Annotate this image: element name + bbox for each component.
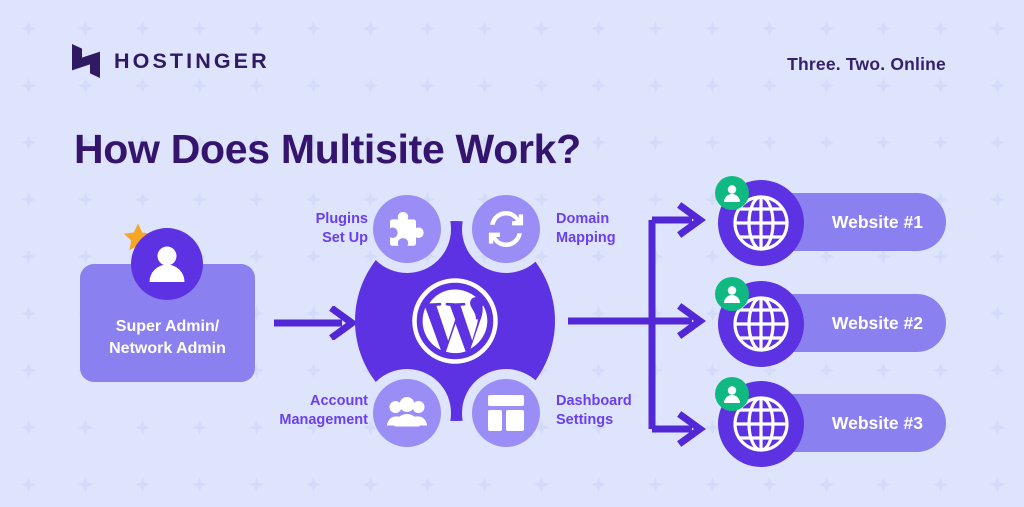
- wordpress-hub: [355, 196, 555, 446]
- infographic-canvas: HOSTINGER Three. Two. Online How Does Mu…: [0, 0, 1024, 507]
- feature-label-account-management: Account Management: [258, 392, 368, 431]
- feature-icon-domain-mapping[interactable]: [472, 195, 540, 263]
- website-label-3: Website #3: [832, 413, 923, 434]
- website-row-2[interactable]: Website #2: [718, 281, 946, 367]
- website-user-badge-1: [715, 176, 749, 210]
- feature-label-plugins-line2: Set Up: [296, 229, 368, 248]
- user-badge-icon: [722, 384, 742, 404]
- hostinger-h-logo-icon: [72, 44, 100, 78]
- website-label-1: Website #1: [832, 212, 923, 233]
- puzzle-piece-icon: [387, 209, 427, 249]
- feature-icon-dashboard-settings[interactable]: [472, 379, 540, 447]
- website-row-3[interactable]: Website #3: [718, 381, 946, 467]
- feature-label-account-line2: Management: [258, 411, 368, 430]
- page-title: How Does Multisite Work?: [74, 126, 581, 173]
- dashboard-layout-icon: [487, 394, 525, 432]
- user-avatar-icon: [145, 242, 189, 286]
- website-label-2: Website #2: [832, 313, 923, 334]
- website-row-1[interactable]: Website #1: [718, 180, 946, 266]
- user-badge-icon: [722, 183, 742, 203]
- brand-wordmark: HOSTINGER: [114, 49, 270, 74]
- branching-arrows-hub-to-websites: [568, 186, 714, 456]
- sync-refresh-icon: [486, 209, 526, 249]
- feature-icon-account-management[interactable]: [373, 379, 441, 447]
- feature-label-plugins-line1: Plugins: [296, 210, 368, 229]
- brand-tagline: Three. Two. Online: [787, 54, 946, 75]
- feature-label-account-line1: Account: [258, 392, 368, 411]
- super-admin-avatar: [131, 228, 203, 300]
- super-admin-label-line2: Network Admin: [109, 338, 226, 360]
- arrow-admin-to-hub: [272, 306, 358, 340]
- super-admin-label-line1: Super Admin/: [116, 316, 219, 338]
- wordpress-logo-icon: [410, 276, 500, 366]
- people-group-icon: [386, 393, 428, 433]
- website-user-badge-3: [715, 377, 749, 411]
- feature-icon-plugins[interactable]: [373, 195, 441, 263]
- brand-logo[interactable]: HOSTINGER: [72, 44, 270, 78]
- user-badge-icon: [722, 284, 742, 304]
- website-user-badge-2: [715, 277, 749, 311]
- feature-label-plugins: Plugins Set Up: [296, 210, 368, 249]
